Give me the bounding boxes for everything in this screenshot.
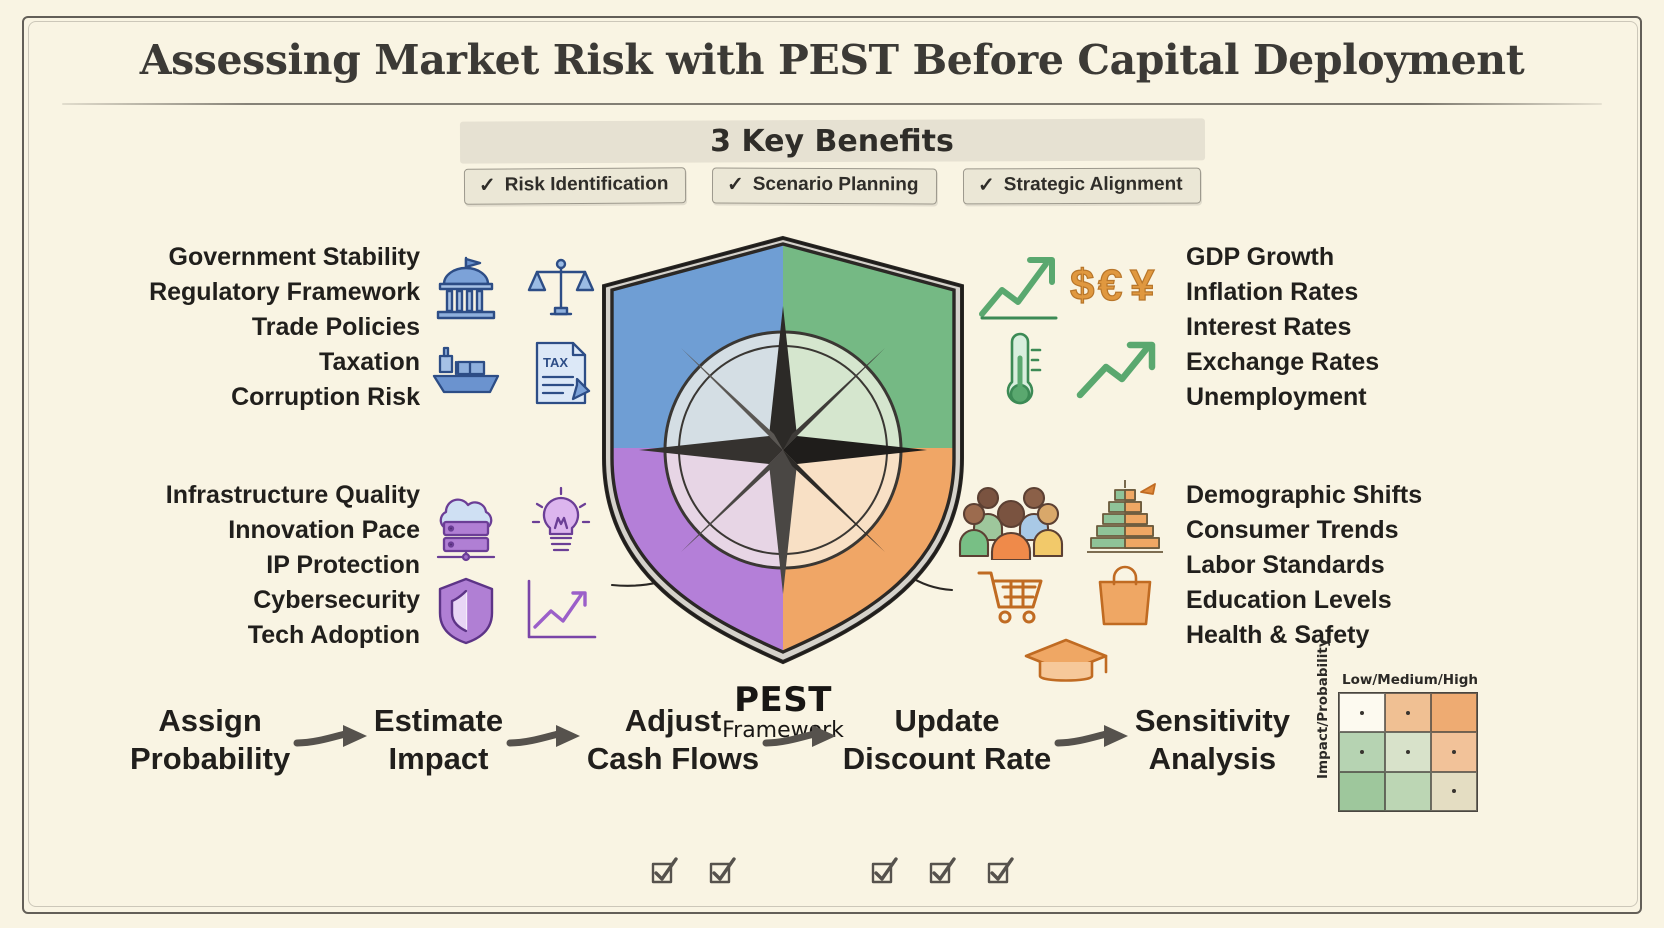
matrix-x-axis-label: Low/Medium/High <box>1342 672 1492 688</box>
step-line-2: Cash Flows <box>587 740 759 778</box>
technological-factors-list: Infrastructure Quality Innovation Pace I… <box>0 478 420 653</box>
process-step-sensitivity-analysis: Sensitivity Analysis <box>1135 702 1290 778</box>
economic-item: Inflation Rates <box>1186 275 1626 310</box>
graduation-cap-icon <box>952 630 1180 690</box>
process-flow: Assign Probability Estimate Impact Adjus… <box>130 694 1290 786</box>
growth-arrow-icon <box>968 244 1068 328</box>
matrix-cell <box>1431 732 1477 771</box>
step-line-1: Estimate <box>374 702 503 740</box>
step-line-2: Impact <box>374 740 503 778</box>
step-line-2: Discount Rate <box>843 740 1051 778</box>
social-item: Education Levels <box>1186 583 1626 618</box>
matrix-cell <box>1339 732 1385 771</box>
step-line-1: Adjust <box>587 702 759 740</box>
right-arrow-icon <box>506 723 584 757</box>
svg-text:$: $ <box>1070 261 1094 310</box>
technological-item: IP Protection <box>0 548 420 583</box>
political-item: Trade Policies <box>0 310 420 345</box>
benefit-label: Scenario Planning <box>753 174 919 197</box>
right-arrow-icon <box>1054 723 1132 757</box>
right-arrow-icon <box>762 723 840 757</box>
check-icon: ✓ <box>479 176 496 196</box>
benefits-heading: 3 Key Benefits <box>0 124 1664 159</box>
government-building-icon <box>418 244 513 331</box>
social-factors-list: Demographic Shifts Consumer Trends Labor… <box>1186 478 1626 653</box>
technological-item: Cybersecurity <box>0 583 420 618</box>
people-group-icon <box>952 476 1070 562</box>
currency-symbols-icon: $ € ¥ <box>1068 244 1168 328</box>
matrix-cell <box>1431 693 1477 732</box>
step-line-1: Assign <box>130 702 290 740</box>
pest-shield-graphic: PEST Framework <box>578 228 988 668</box>
title-divider <box>62 103 1602 105</box>
social-item: Demographic Shifts <box>1186 478 1626 513</box>
step-line-2: Analysis <box>1135 740 1290 778</box>
right-arrow-icon <box>293 723 371 757</box>
matrix-cell <box>1385 772 1431 811</box>
step-line-1: Update <box>843 702 1051 740</box>
technological-item: Infrastructure Quality <box>0 478 420 513</box>
benefits-chip-row: ✓ Risk Identification ✓ Scenario Plannin… <box>0 168 1664 204</box>
compass-rose-icon <box>639 306 927 594</box>
matrix-dot <box>1406 750 1410 754</box>
matrix-dot <box>1360 750 1364 754</box>
check-icon: ✓ <box>978 175 995 195</box>
benefit-label: Risk Identification <box>504 173 668 196</box>
matrix-cell <box>1385 732 1431 771</box>
benefit-chip-strategic-alignment[interactable]: ✓ Strategic Alignment <box>963 168 1201 205</box>
economic-item: Exchange Rates <box>1186 345 1626 380</box>
matrix-cell <box>1339 772 1385 811</box>
political-item: Regulatory Framework <box>0 275 420 310</box>
svg-text:TAX: TAX <box>543 355 568 370</box>
security-shield-icon <box>418 568 513 656</box>
matrix-dot <box>1452 789 1456 793</box>
shopping-cart-icon <box>952 562 1070 630</box>
matrix-cell <box>1385 693 1431 732</box>
rising-arrow-icon <box>1068 328 1168 416</box>
benefit-chip-risk-identification[interactable]: ✓ Risk Identification <box>464 167 687 205</box>
benefit-chip-scenario-planning[interactable]: ✓ Scenario Planning <box>712 168 937 205</box>
technological-item: Innovation Pace <box>0 513 420 548</box>
footer-checkbox <box>913 856 971 886</box>
thermometer-icon <box>968 328 1068 416</box>
process-step-update-discount-rate: Update Discount Rate <box>843 702 1051 778</box>
check-icon: ✓ <box>727 175 744 195</box>
footer-checkbox <box>855 856 913 886</box>
cloud-server-icon <box>418 480 513 568</box>
political-item: Corruption Risk <box>0 380 420 415</box>
process-step-assign-probability: Assign Probability <box>130 702 290 778</box>
risk-matrix: Low/Medium/High Impact/Probability <box>1306 672 1482 816</box>
footer-checkbox <box>635 856 693 886</box>
population-pyramid-icon <box>1070 476 1180 562</box>
benefit-label: Strategic Alignment <box>1003 174 1182 197</box>
step-line-2: Probability <box>130 740 290 778</box>
political-item: Taxation <box>0 345 420 380</box>
matrix-grid <box>1338 692 1478 812</box>
social-item: Consumer Trends <box>1186 513 1626 548</box>
footer-checkbox <box>693 856 751 886</box>
social-item: Health & Safety <box>1186 618 1626 653</box>
shopping-bag-icon <box>1070 562 1180 630</box>
economic-icon-cluster: $ € ¥ <box>968 244 1168 416</box>
matrix-dot <box>1452 750 1456 754</box>
technological-item: Tech Adoption <box>0 618 420 653</box>
economic-item: Unemployment <box>1186 380 1626 415</box>
svg-text:€: € <box>1098 261 1122 310</box>
matrix-cell <box>1431 772 1477 811</box>
matrix-dot <box>1406 711 1410 715</box>
footer-checkbox <box>971 856 1029 886</box>
infographic-canvas: Assessing Market Risk with PEST Before C… <box>0 0 1664 928</box>
process-step-estimate-impact: Estimate Impact <box>374 702 503 778</box>
footer-spacer <box>751 856 855 886</box>
political-item: Government Stability <box>0 240 420 275</box>
economic-item: Interest Rates <box>1186 310 1626 345</box>
economic-item: GDP Growth <box>1186 240 1626 275</box>
matrix-dot <box>1360 711 1364 715</box>
footer-checkmark-row <box>0 856 1664 886</box>
matrix-cell <box>1339 693 1385 732</box>
social-item: Labor Standards <box>1186 548 1626 583</box>
page-title: Assessing Market Risk with PEST Before C… <box>0 36 1664 84</box>
svg-text:¥: ¥ <box>1130 261 1155 310</box>
matrix-y-axis-label: Impact/Probability <box>1315 669 1331 779</box>
political-factors-list: Government Stability Regulatory Framewor… <box>0 240 420 415</box>
process-step-adjust-cash-flows: Adjust Cash Flows <box>587 702 759 778</box>
social-icon-cluster <box>952 476 1180 656</box>
economic-factors-list: GDP Growth Inflation Rates Interest Rate… <box>1186 240 1626 415</box>
step-line-1: Sensitivity <box>1135 702 1290 740</box>
cargo-ship-icon <box>418 331 513 416</box>
